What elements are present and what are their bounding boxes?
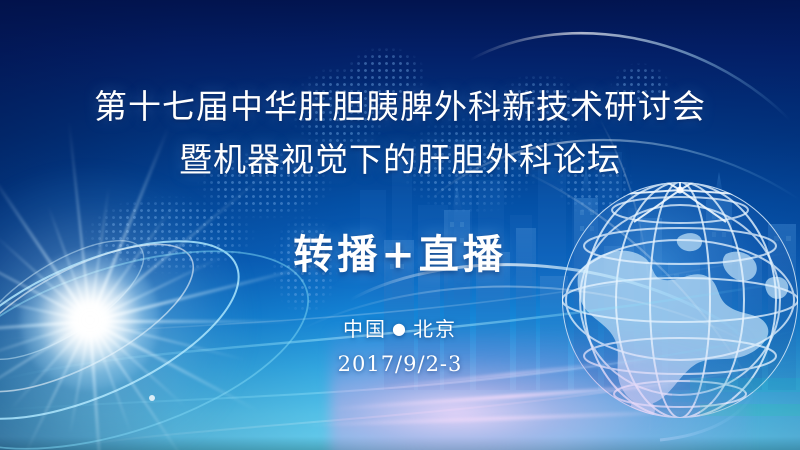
location-separator-icon: ● xyxy=(387,319,413,338)
title-line-1: 第十七届中华肝胆胰脾外科新技术研讨会 xyxy=(0,80,800,128)
location-line: 中国●北京 xyxy=(0,313,800,342)
subtitle-broadcast: 转播+直播 xyxy=(0,222,800,280)
title-line-2: 暨机器视觉下的肝胆外科论坛 xyxy=(0,133,800,181)
location-city: 北京 xyxy=(413,317,457,341)
conference-poster: 第十七届中华肝胆胰脾外科新技术研讨会 暨机器视觉下的肝胆外科论坛 转播+直播 中… xyxy=(0,0,800,450)
location-country: 中国 xyxy=(343,317,387,341)
text-layer: 第十七届中华肝胆胰脾外科新技术研讨会 暨机器视觉下的肝胆外科论坛 转播+直播 中… xyxy=(0,0,800,450)
event-date: 2017/9/2-3 xyxy=(0,352,800,376)
